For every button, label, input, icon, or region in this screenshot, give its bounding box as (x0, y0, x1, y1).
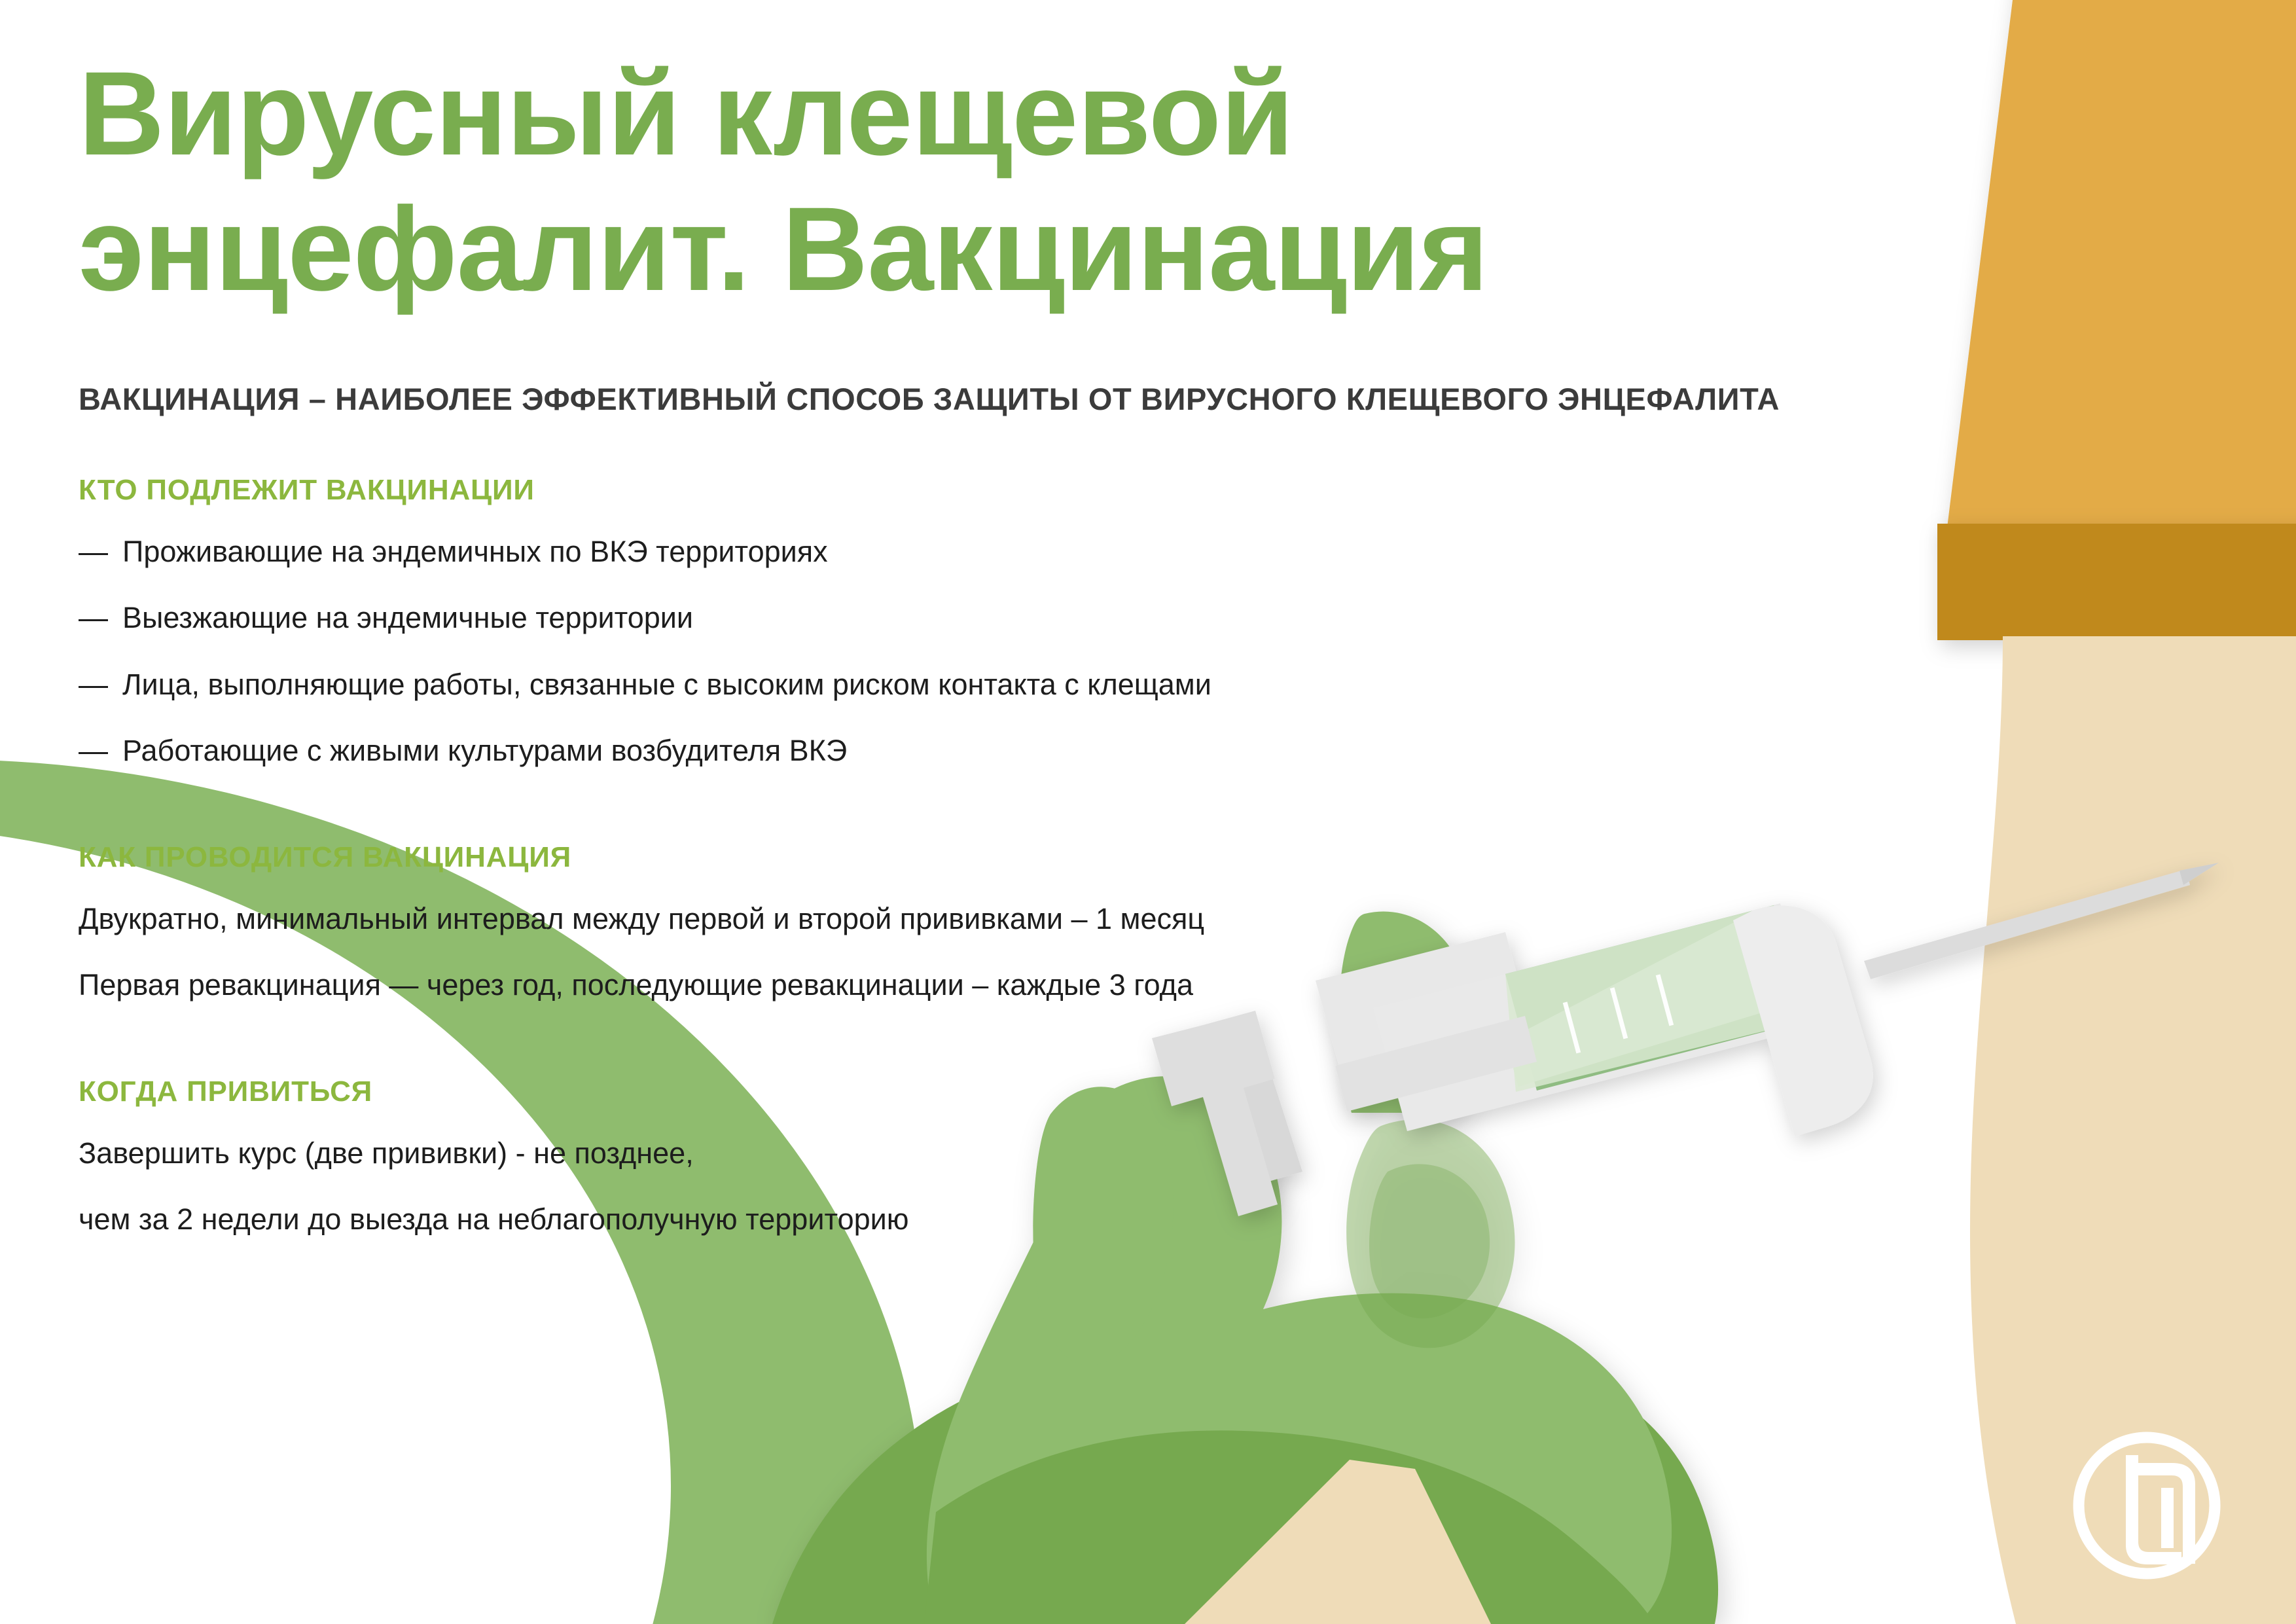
organization-logo (2065, 1424, 2229, 1587)
section-how-vaccination: КАК ПРОВОДИТСЯ ВАКЦИНАЦИЯ Двукратно, мин… (79, 841, 1859, 1005)
list-item: — Лица, выполняющие работы, связанные с … (79, 666, 1859, 704)
how-paragraph-1: Двукратно, минимальный интервал между пе… (79, 900, 1859, 939)
bullet-dash: — (79, 732, 108, 770)
list-item: — Выезжающие на эндемичные территории (79, 599, 1859, 638)
section-who-should-vaccinate: КТО ПОДЛЕЖИТ ВАКЦИНАЦИИ — Проживающие на… (79, 474, 1859, 770)
upper-arm-sleeve-illustration (1937, 0, 2296, 1624)
bullet-dash: — (79, 666, 108, 704)
list-item-label: Выезжающие на эндемичные территории (122, 599, 693, 638)
list-item-label: Лица, выполняющие работы, связанные с вы… (122, 666, 1211, 704)
section-heading-when: КОГДА ПРИВИТЬСЯ (79, 1075, 1859, 1108)
list-item: — Работающие с живыми культурами возбуди… (79, 732, 1859, 770)
when-paragraph-2: чем за 2 недели до выезда на неблагополу… (79, 1200, 1859, 1239)
section-when-to-vaccinate: КОГДА ПРИВИТЬСЯ Завершить курс (две прив… (79, 1075, 1859, 1239)
bullet-dash: — (79, 599, 108, 638)
wrist-skin-strip (1185, 1460, 1491, 1624)
when-paragraph-1: Завершить курс (две прививки) - не поздн… (79, 1134, 1859, 1173)
who-bullet-list: — Проживающие на эндемичных по ВКЭ терри… (79, 533, 1859, 770)
page-title: Вирусный клещевой энцефалит. Вакцинация (79, 46, 1859, 317)
section-heading-who: КТО ПОДЛЕЖИТ ВАКЦИНАЦИИ (79, 474, 1859, 507)
circle-monogram-icon (2065, 1424, 2229, 1587)
poster-subtitle: ВАКЦИНАЦИЯ – НАИБОЛЕЕ ЭФФЕКТИВНЫЙ СПОСОБ… (79, 380, 1859, 419)
bullet-dash: — (79, 533, 108, 571)
list-item: — Проживающие на эндемичных по ВКЭ терри… (79, 533, 1859, 571)
list-item-label: Работающие с живыми культурами возбудите… (122, 732, 847, 770)
poster-canvas: Вирусный клещевой энцефалит. Вакцинация … (0, 0, 2296, 1624)
list-item-label: Проживающие на эндемичных по ВКЭ террито… (122, 533, 828, 571)
poster-content: Вирусный клещевой энцефалит. Вакцинация … (79, 46, 1859, 1239)
how-paragraph-2: Первая ревакцинация — через год, последу… (79, 966, 1859, 1005)
section-heading-how: КАК ПРОВОДИТСЯ ВАКЦИНАЦИЯ (79, 841, 1859, 874)
